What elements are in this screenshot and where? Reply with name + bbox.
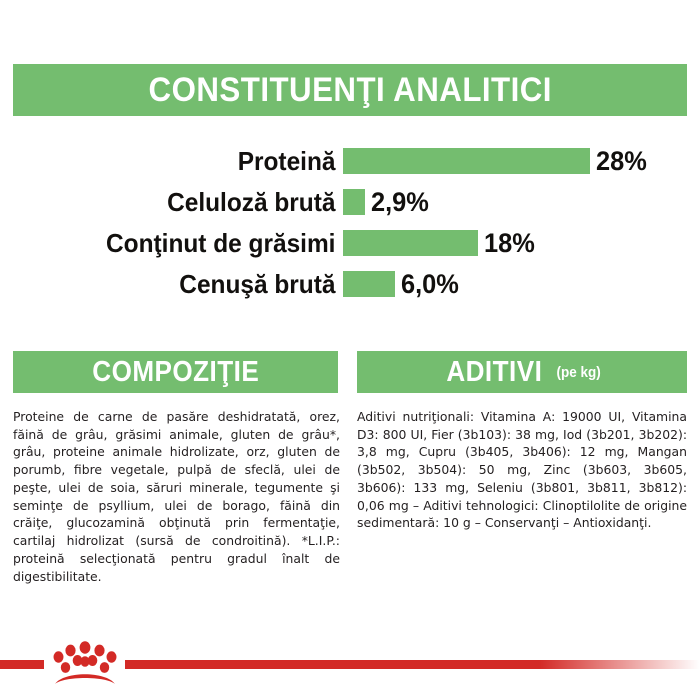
royal-canin-crown-icon	[48, 640, 122, 688]
product-info-panel: CONSTITUENŢI ANALITICI Proteină 28% Celu…	[0, 0, 700, 700]
chart-row: Proteină 28%	[0, 146, 700, 176]
footer	[0, 632, 700, 700]
chart-bar	[343, 230, 478, 256]
footer-rule-right	[125, 660, 700, 669]
chart-value-label: 28%	[596, 148, 647, 175]
composition-title: COMPOZIŢIE	[92, 358, 259, 387]
chart-category-label: Celuloză brută	[21, 189, 343, 215]
chart-bar	[343, 148, 590, 174]
composition-banner: COMPOZIŢIE	[13, 351, 338, 393]
chart-category-label: Cenuşă brută	[21, 271, 343, 297]
chart-category-label: Proteină	[21, 148, 343, 174]
analytical-constituents-banner: CONSTITUENŢI ANALITICI	[13, 64, 687, 116]
chart-row: Conţinut de grăsimi 18%	[0, 228, 700, 258]
additives-banner: ADITIVI (pe kg)	[357, 351, 687, 393]
footer-rule-left	[0, 660, 44, 669]
chart-row: Cenuşă brută 6,0%	[0, 269, 700, 299]
analytical-constituents-title: CONSTITUENŢI ANALITICI	[148, 73, 551, 107]
additives-text: Aditivi nutriţionali: Vitamina A: 19000 …	[357, 408, 687, 532]
additives-title: ADITIVI	[446, 358, 542, 387]
chart-value-label: 6,0%	[401, 271, 459, 298]
chart-bar	[343, 189, 365, 215]
chart-category-label: Conţinut de grăsimi	[21, 230, 343, 256]
chart-value-label: 2,9%	[371, 189, 429, 216]
chart-value-label: 18%	[484, 230, 535, 257]
analytical-constituents-chart: Proteină 28% Celuloză brută 2,9% Conţinu…	[0, 142, 700, 310]
composition-text: Proteine de carne de pasăre deshidratată…	[13, 408, 340, 585]
chart-bar	[343, 271, 395, 297]
additives-subtitle: (pe kg)	[557, 364, 601, 381]
chart-row: Celuloză brută 2,9%	[0, 187, 700, 217]
